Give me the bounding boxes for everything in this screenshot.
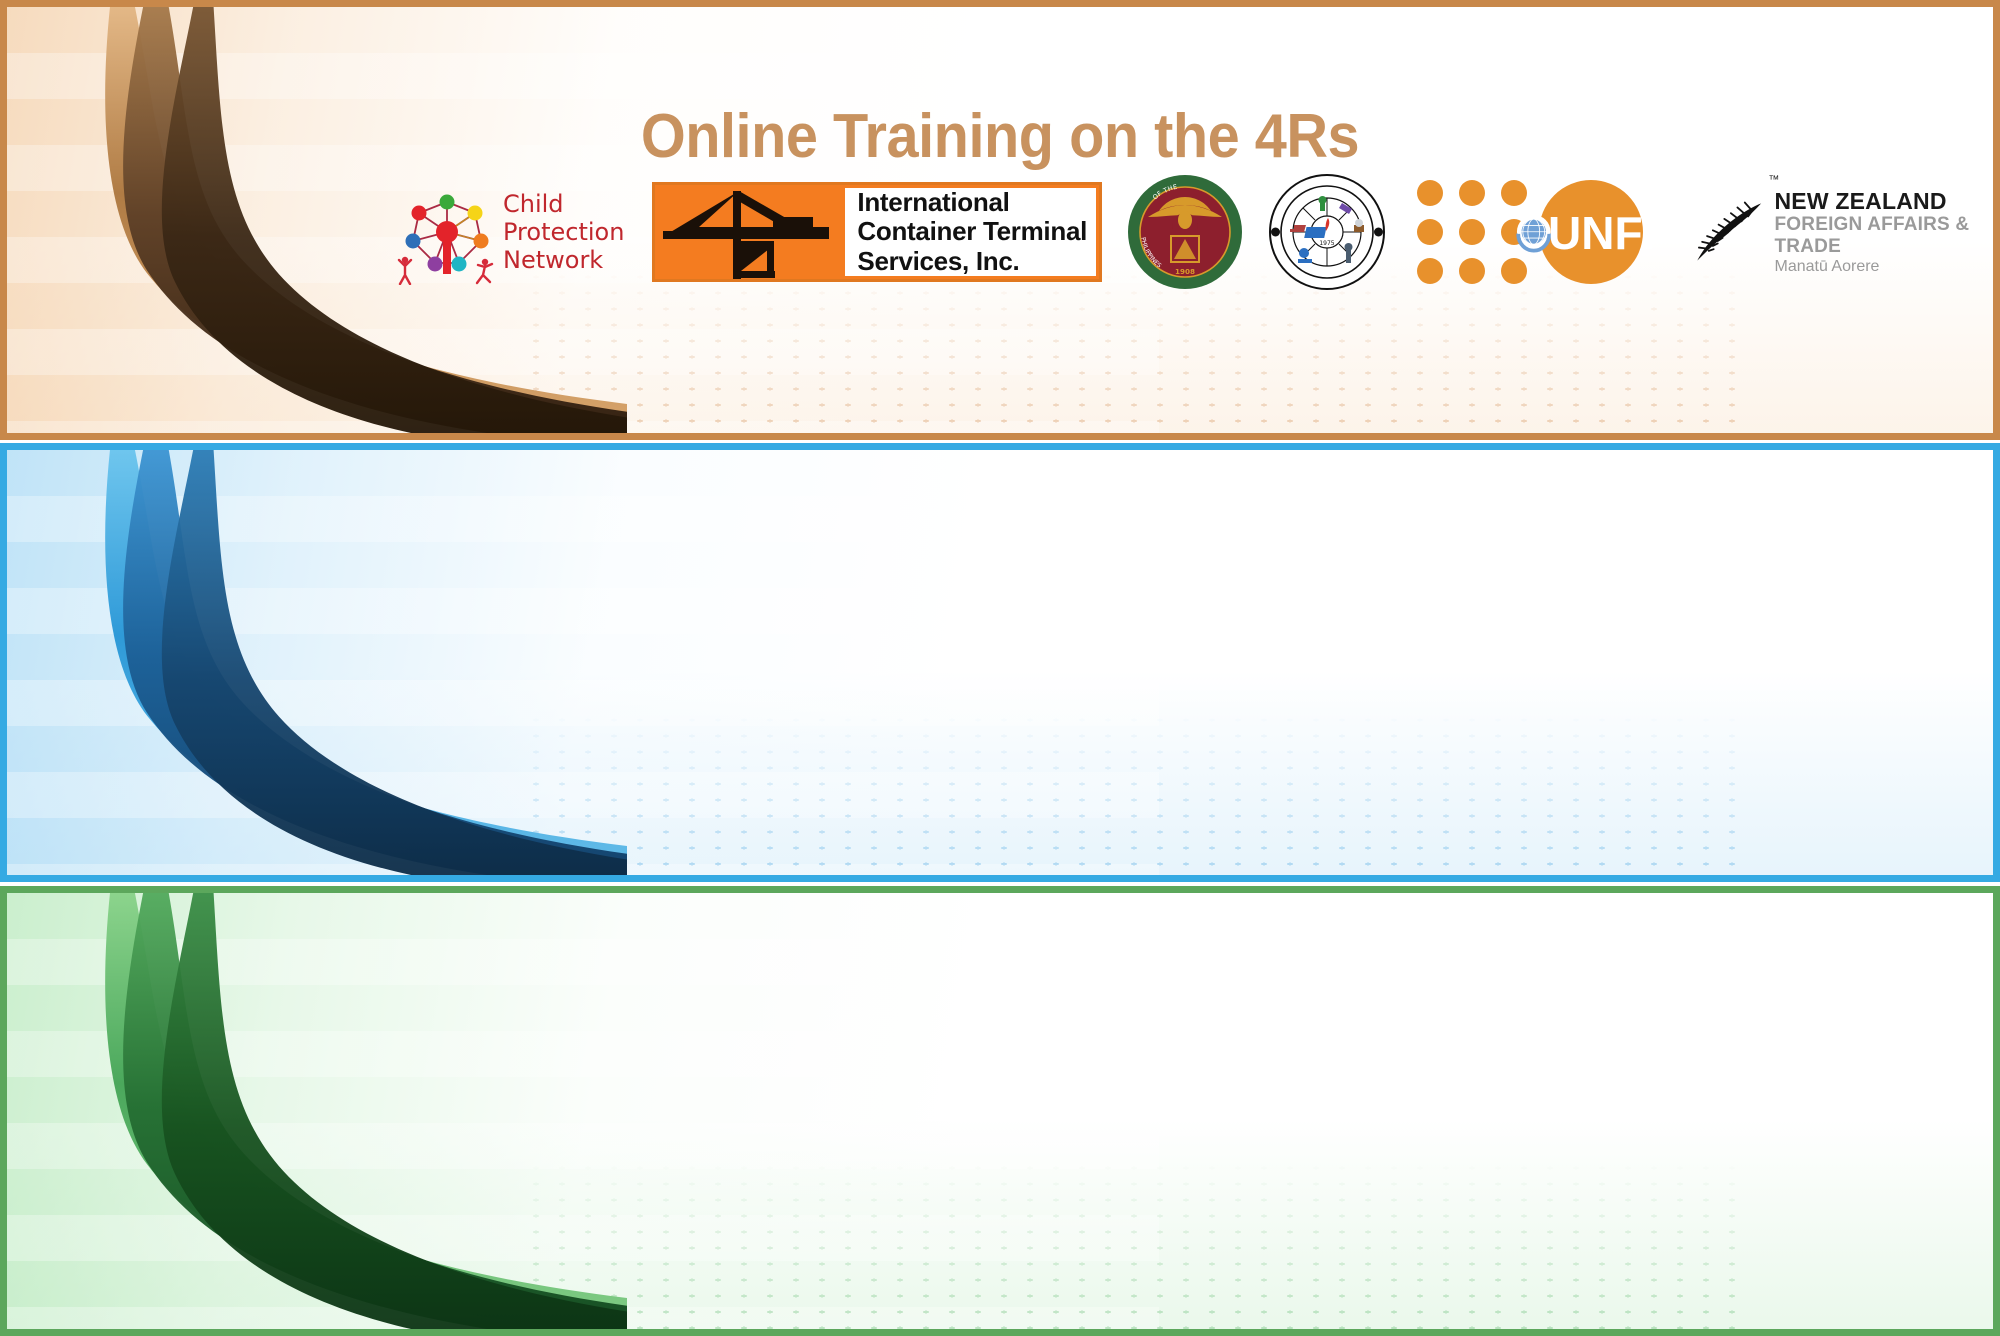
logo-unfpa-slot: UNFPA	[1386, 172, 1666, 292]
banner-1-inner: Online Training on the 4Rs	[7, 7, 1993, 433]
ictsi-crane-svg	[655, 185, 845, 279]
cpn-network-icon	[397, 180, 497, 285]
logo-unfpa: UNFPA	[1416, 177, 1666, 287]
banner-3-halftone-texture	[523, 1128, 1754, 1329]
university-of-the-philippines-seal-icon: 1908 OF THE PHILIPPINES	[1126, 173, 1244, 291]
national-teacher-training-center-seal-icon: 1975	[1268, 173, 1386, 291]
ictsi-crane-icon	[655, 185, 845, 279]
logo-ictsi-slot: International Container Terminal Service…	[624, 172, 1102, 292]
silver-fern-icon	[1694, 193, 1766, 271]
logo-up-seal-slot: 1908 OF THE PHILIPPINES	[1126, 172, 1244, 292]
banner-certificate-women-children-protection-specialty: Certificate in Women and Children Protec…	[0, 886, 2000, 1336]
trademark-icon: ™	[1768, 174, 1779, 186]
unfpa-dot-grid-icon	[1417, 180, 1527, 284]
banner-3-background-wash	[7, 893, 1993, 1329]
banner-3-swoosh-decoration	[7, 893, 627, 1329]
nz-wordmark: NEW ZEALAND FOREIGN AFFAIRS & TRADE Mana…	[1775, 188, 1994, 276]
nttc-seal-year: 1975	[1320, 240, 1335, 247]
up-seal-year: 1908	[1175, 267, 1195, 276]
cpn-line-3: Network	[503, 246, 624, 274]
banner-multidisciplinary-team-online-training: "Multidisciplinary Team Online Training"	[0, 443, 2000, 882]
banner-collection-page: Online Training on the 4Rs	[0, 0, 2000, 1336]
nz-line-2: FOREIGN AFFAIRS & TRADE	[1775, 214, 1994, 257]
ictsi-line-2: Container Terminal	[857, 217, 1096, 247]
banner-1-title: Online Training on the 4Rs	[77, 101, 1924, 172]
logo-child-protection-network: Child Protection Network	[397, 172, 624, 292]
banner-2-background-bands	[7, 450, 1159, 875]
nz-line-1: NEW ZEALAND	[1775, 188, 1994, 214]
unfpa-wordmark: UNFPA	[1548, 207, 1666, 259]
un-emblem-icon	[1517, 215, 1551, 251]
nz-line-3: Manatū Aorere	[1775, 258, 1994, 276]
logo-ictsi: International Container Terminal Service…	[652, 182, 1102, 282]
banner-2-halftone-texture	[523, 680, 1754, 876]
unfpa-svg: UNFPA	[1416, 177, 1666, 287]
banner-online-training-4rs: Online Training on the 4Rs	[0, 0, 2000, 440]
banner-2-swoosh-decoration	[7, 450, 627, 875]
banner-2-background-wash	[7, 450, 1993, 875]
cpn-wordmark: Child Protection Network	[503, 190, 624, 275]
ictsi-line-3: Services, Inc.	[857, 247, 1096, 277]
banner-3-background-bands	[7, 893, 1159, 1329]
cpn-line-1: Child	[503, 190, 624, 218]
banner-1-logo-strip: Child Protection Network	[397, 172, 1993, 292]
cpn-line-2: Protection	[503, 218, 624, 246]
logo-new-zealand-mfat: ™ NEW ZEALAND FOREIGN AFFAIRS & TRADE Ma…	[1694, 172, 1993, 292]
ictsi-line-1: International	[857, 188, 1096, 218]
banner-3-inner: Certificate in Women and Children Protec…	[7, 893, 1993, 1329]
logo-nttc-seal-slot: 1975	[1268, 172, 1386, 292]
ictsi-wordmark: International Container Terminal Service…	[845, 188, 1096, 276]
banner-2-inner: "Multidisciplinary Team Online Training"	[7, 450, 1993, 875]
